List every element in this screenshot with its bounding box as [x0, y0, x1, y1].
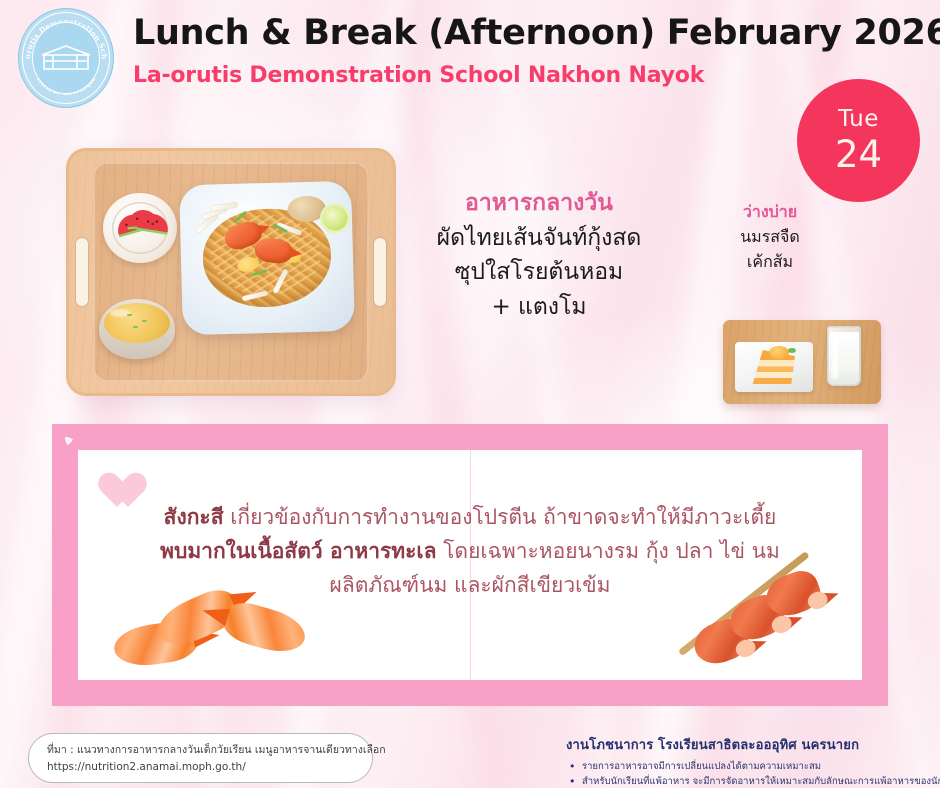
day-badge: Tue 24: [797, 79, 920, 202]
snack-item: เค้กส้ม: [690, 250, 850, 275]
nutrition-card: สังกะสี เกี่ยวข้องกับการทำงานของโปรตีน ถ…: [78, 450, 862, 680]
lunch-menu-text: อาหารกลางวัน ผัดไทยเส้นจันท์กุ้งสด ซุปใส…: [404, 186, 674, 324]
credit-note: สำหรับนักเรียนที่แพ้อาหาร จะมีการจัดอาหา…: [566, 774, 926, 788]
snack-heading: ว่างบ่าย: [690, 200, 850, 225]
day-badge-number: 24: [835, 136, 882, 173]
day-badge-weekday: Tue: [838, 108, 879, 131]
snack-tray-image: [723, 320, 881, 404]
nutrition-detail: เกี่ยวข้องกับการทำงานของโปรตีน ถ้าขาดจะท…: [230, 505, 776, 529]
nutrition-detail: โดยเฉพาะหอยนางรม กุ้ง ปลา ไข่ นม: [443, 539, 780, 563]
frame-scallop-bottom: [52, 680, 888, 706]
snack-item: นมรสจืด: [690, 225, 850, 250]
frame-scallop-right: [862, 424, 888, 706]
page-title: Lunch & Break (Afternoon) February 2026: [133, 12, 940, 56]
tray-handle-left: [76, 238, 88, 306]
nutrition-line-1: สังกะสี เกี่ยวข้องกับการทำงานของโปรตีน ถ…: [78, 500, 862, 534]
source-line-1: ที่มา : แนวทางการอาหารกลางวันเด็กวัยเรีย…: [47, 742, 354, 759]
milk-glass: [827, 326, 861, 386]
nutrition-keyword: พบมากในเนื้อสัตว์ อาหารทะเล: [160, 539, 436, 563]
nutrition-tip-frame: สังกะสี เกี่ยวข้องกับการทำงานของโปรตีน ถ…: [52, 424, 888, 706]
nutrition-keyword: สังกะสี: [164, 505, 224, 529]
shrimp-icon: [218, 597, 310, 659]
school-building-icon: [39, 43, 93, 73]
snack-menu-text: ว่างบ่าย นมรสจืด เค้กส้ม: [690, 200, 850, 274]
lunch-item: ซุปใสโรยต้นหอม: [404, 255, 674, 290]
source-box: ที่มา : แนวทางการอาหารกลางวันเด็กวัยเรีย…: [28, 733, 373, 783]
lunch-heading: อาหารกลางวัน: [404, 186, 674, 221]
credit-title: งานโภชนาการ โรงเรียนสาธิตละอออุทิศ นครนา…: [566, 734, 926, 755]
nutrition-detail: ผลิตภัณฑ์นม และผักสีเขียวเข้ม: [330, 573, 611, 597]
nutrition-text: สังกะสี เกี่ยวข้องกับการทำงานของโปรตีน ถ…: [78, 500, 862, 602]
nutrition-line-3: ผลิตภัณฑ์นม และผักสีเขียวเข้ม: [78, 568, 862, 602]
source-url[interactable]: https://nutrition2.anamai.moph.go.th/: [47, 759, 354, 776]
page-header: La-orutis Demonstration School โรงเรียนส…: [0, 0, 940, 118]
credit-notes-list: รายการอาหารอาจมีการเปลี่ยนแปลงได้ตามความ…: [566, 759, 926, 788]
lunch-tray-image: [66, 148, 396, 396]
lunch-item: + แตงโม: [404, 290, 674, 325]
tray-handle-right: [374, 238, 386, 306]
glass-highlight: [832, 334, 838, 378]
credit-note: รายการอาหารอาจมีการเปลี่ยนแปลงได้ตามความ…: [566, 759, 926, 774]
mint-leaf-icon: [788, 348, 796, 353]
orange-topping: [769, 346, 789, 359]
lime-wedge: [320, 203, 351, 234]
watermelon-plate: [103, 193, 177, 263]
wooden-tray: [66, 148, 396, 396]
school-seal-logo: La-orutis Demonstration School โรงเรียนส…: [18, 8, 114, 108]
snack-plate: [735, 342, 813, 392]
header-title-block: Lunch & Break (Afternoon) February 2026 …: [133, 12, 940, 88]
lunch-item: ผัดไทยเส้นจันท์กุ้งสด: [404, 221, 674, 256]
credit-block: งานโภชนาการ โรงเรียนสาธิตละอออุทิศ นครนา…: [566, 734, 926, 788]
page-subtitle: La-orutis Demonstration School Nakhon Na…: [133, 63, 940, 88]
soup-bowl: [99, 299, 175, 359]
frame-scallop-left: [52, 424, 78, 706]
frame-scallop-top: [52, 424, 888, 450]
pad-thai-plate: [179, 181, 355, 335]
nutrition-line-2: พบมากในเนื้อสัตว์ อาหารทะเล โดยเฉพาะหอยน…: [78, 534, 862, 568]
